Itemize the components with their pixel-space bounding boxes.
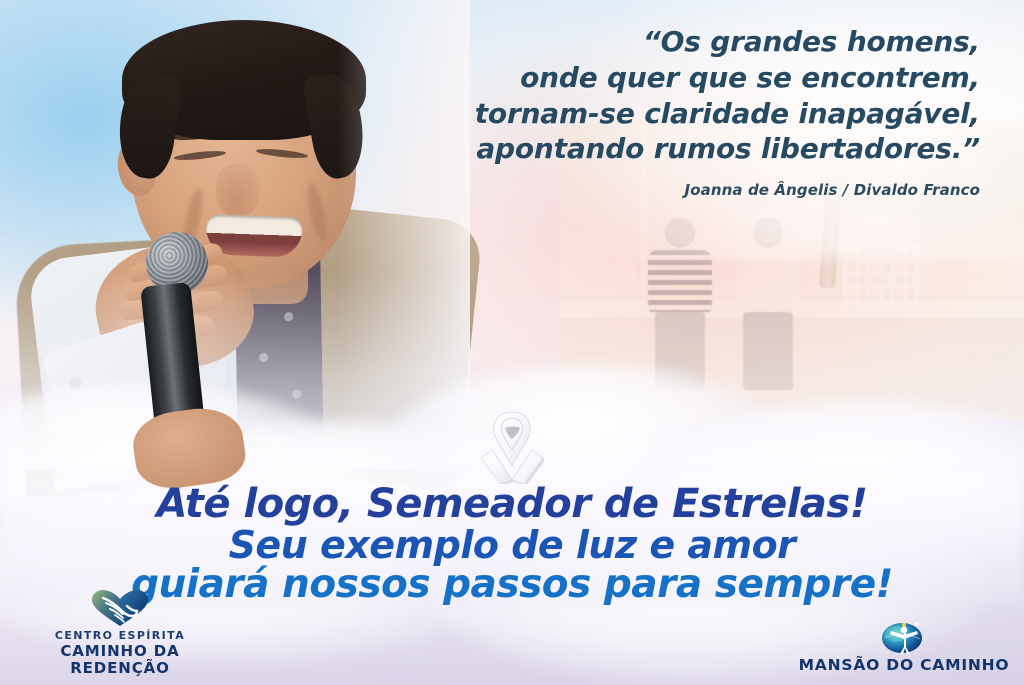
logo-centro-espirita-line1: CENTRO ESPÍRITA xyxy=(14,630,226,643)
globe-figure-flame-icon xyxy=(877,611,931,655)
logo-centro-espirita-line2: CAMINHO DA REDENÇÃO xyxy=(14,643,226,678)
quote-block: “Os grandes homens, onde quer que se enc… xyxy=(420,24,980,199)
logo-mansao-do-caminho-label: MANSÃO DO CAMINHO xyxy=(798,657,1010,675)
quote-line-2: onde quer que se encontrem, xyxy=(420,60,980,96)
scene-person-legs xyxy=(655,312,705,390)
headline-line-1: Até logo, Semeador de Estrelas! xyxy=(0,484,1024,526)
logo-centro-espirita[interactable]: CENTRO ESPÍRITA CAMINHO DA REDENÇÃO xyxy=(14,588,226,677)
quote-line-4: apontando rumos libertadores.” xyxy=(420,131,980,167)
scene-person-legs xyxy=(743,312,793,390)
portrait-cuff-button xyxy=(70,378,81,389)
quote-line-3: tornam-se claridade inapagável, xyxy=(420,96,980,132)
portrait-divaldo-franco xyxy=(0,0,470,470)
logo-mansao-do-caminho[interactable]: MANSÃO DO CAMINHO xyxy=(798,611,1010,675)
headline-line-2: Seu exemplo de luz e amor xyxy=(0,526,1024,566)
heart-hands-icon xyxy=(89,588,151,628)
ribbon-block xyxy=(0,404,1024,488)
memorial-poster: “Os grandes homens, onde quer que se enc… xyxy=(0,0,1024,685)
quote-attribution: Joanna de Ângelis / Divaldo Franco xyxy=(420,181,980,199)
quote-line-1: “Os grandes homens, xyxy=(420,24,980,60)
portrait-nose xyxy=(216,164,260,218)
white-ribbon-icon xyxy=(476,404,548,484)
